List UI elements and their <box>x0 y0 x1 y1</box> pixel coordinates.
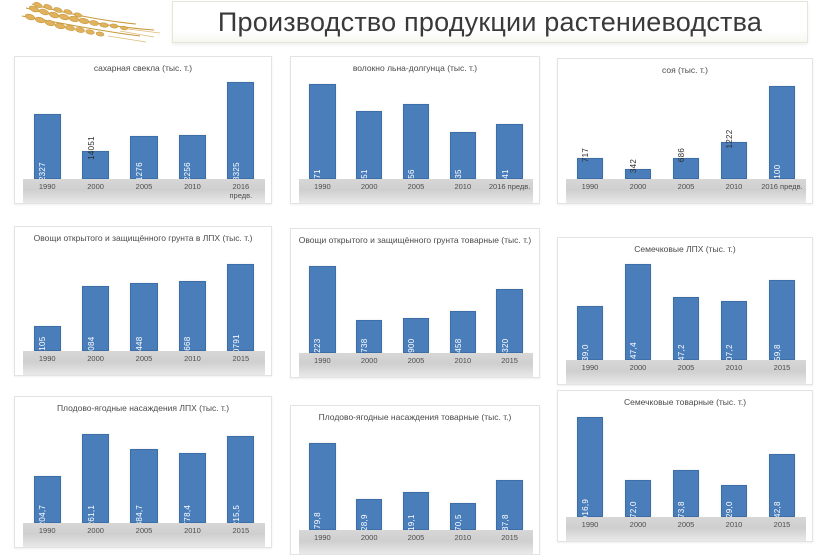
wheat-ears-icon <box>8 0 168 50</box>
bar-sugar-beet-2016 предв.[interactable]: 48325 <box>227 82 254 179</box>
x-axis-label: 2010 <box>439 182 486 191</box>
x-axis-label: 2000 <box>346 356 393 365</box>
bar-fruit-berry-lph-1990[interactable]: 1204,7 <box>34 476 61 523</box>
x-axis-label: 2015 <box>486 533 533 542</box>
bar-slot: 959,8 <box>758 256 806 360</box>
bar-slot: 48325 <box>217 75 265 179</box>
bar-fruit-berry-lph-2010[interactable]: 1778,4 <box>179 453 206 523</box>
bar-series-pome-commercial: 1016,9372,0473,8329,0642,8 <box>566 409 806 517</box>
x-axis-label: 1990 <box>299 533 346 542</box>
bar-slot: 747,2 <box>662 256 710 360</box>
x-axis-label: 2010 <box>710 363 758 372</box>
x-axis-flax-fiber: 19902000200520102016 предв. <box>299 179 533 203</box>
bar-slot: 2900 <box>393 259 440 353</box>
x-axis-label: 2015 <box>217 354 265 363</box>
bar-slot: 370,5 <box>439 436 486 530</box>
x-axis-label: 2015 <box>758 520 806 529</box>
bar-slot: 1204,7 <box>23 427 71 523</box>
bar-fruit-berry-lph-2005[interactable]: 1884,7 <box>130 449 157 523</box>
x-axis-soy: 19902000200520102016 предв. <box>566 179 806 203</box>
bar-slot: 41 <box>486 75 533 179</box>
bar-series-vegetables-lph: 310580848448866810791 <box>23 257 265 351</box>
bar-series-soy: 71734268612223100 <box>566 77 806 179</box>
bar-slot: 71 <box>299 75 346 179</box>
bar-slot: 2261,1 <box>71 427 119 523</box>
bar-slot: 2738 <box>346 259 393 353</box>
bar-slot: 10791 <box>217 257 265 351</box>
plot-area-soy: 7173426861222310019902000200520102016 пр… <box>566 77 806 203</box>
bar-vegetables-lph-2015[interactable]: 10791 <box>227 264 254 351</box>
x-axis-label: 1990 <box>23 182 71 191</box>
plot-area-sugar-beet: 3232714051212762225648325199020002005201… <box>23 75 265 203</box>
x-axis-label: 2000 <box>346 182 393 191</box>
bar-slot: 2215,5 <box>217 427 265 523</box>
chart-title-sugar-beet: сахарная свекла (тыс. т.) <box>15 63 271 74</box>
x-axis-label: 2005 <box>393 356 440 365</box>
x-axis-label: 2000 <box>614 182 662 191</box>
bar-pome-commercial-2000[interactable]: 372,0 <box>625 480 652 517</box>
x-axis-label: 2005 <box>393 182 440 191</box>
plot-area-pome-commercial: 1016,9372,0473,8329,0642,819902000200520… <box>566 409 806 541</box>
x-axis-fruit-berry-lph: 19902000200520102015 <box>23 523 265 547</box>
bar-fruit-berry-lph-2015[interactable]: 2215,5 <box>227 436 254 523</box>
bar-pome-lph-2005[interactable]: 747,2 <box>673 297 700 360</box>
x-axis-label: 2000 <box>346 533 393 542</box>
bar-sugar-beet-1990[interactable]: 32327 <box>34 114 61 179</box>
chart-title-fruit-berry-lph: Плодово-ягодные насаждения ЛПХ (тыс. т.) <box>15 403 271 414</box>
bar-pome-commercial-2010[interactable]: 329,0 <box>721 485 748 517</box>
bar-slot: 8668 <box>168 257 216 351</box>
bar-value-label: 71 <box>313 169 322 179</box>
chart-title-soy: соя (тыс. т.) <box>558 65 812 76</box>
plot-area-fruit-berry-commercial: 1179,8428,9519,1370,5687,819902000200520… <box>299 436 533 554</box>
bar-vegetables-commercial-2005[interactable]: 2900 <box>403 318 429 353</box>
bar-pome-commercial-2005[interactable]: 473,8 <box>673 470 700 517</box>
x-axis-label: 2010 <box>168 354 216 363</box>
x-axis-label: 2000 <box>614 363 662 372</box>
bar-fruit-berry-commercial-2000[interactable]: 428,9 <box>356 499 382 530</box>
x-axis-label: 1990 <box>23 354 71 363</box>
x-axis-label: 2010 <box>710 520 758 529</box>
x-axis-label: 2005 <box>662 182 710 191</box>
plot-area-vegetables-lph: 3105808484488668107911990200020052010201… <box>23 257 265 375</box>
bar-slot: 1222 <box>710 77 758 179</box>
x-axis-label: 2010 <box>168 182 216 191</box>
bar-slot: 717 <box>566 77 614 179</box>
bar-soy-2005[interactable]: 686 <box>673 158 700 179</box>
plot-area-flax-fiber: 715156354119902000200520102016 предв. <box>299 75 533 203</box>
bar-flax-fiber-2016 предв.[interactable]: 41 <box>496 124 522 179</box>
bar-slot: 642,8 <box>758 409 806 517</box>
plot-area-pome-lph: 639,01147,4747,2707,2959,819902000200520… <box>566 256 806 384</box>
x-axis-fruit-berry-commercial: 19902000200520102015 <box>299 530 533 554</box>
bar-value-label: 51 <box>360 169 369 179</box>
x-axis-label: 2010 <box>439 533 486 542</box>
bar-sugar-beet-2010[interactable]: 22256 <box>179 135 206 180</box>
chart-title-vegetables-lph: Овощи открытого и защищённого грунта в Л… <box>15 233 271 244</box>
bar-slot: 7223 <box>299 259 346 353</box>
x-axis-vegetables-lph: 19902000200520102015 <box>23 351 265 375</box>
bar-slot: 473,8 <box>662 409 710 517</box>
bar-sugar-beet-2000[interactable]: 14051 <box>82 151 109 179</box>
x-axis-label: 2005 <box>120 526 168 535</box>
bar-series-fruit-berry-lph: 1204,72261,11884,71778,42215,5 <box>23 427 265 523</box>
bar-soy-2016 предв.[interactable]: 3100 <box>769 86 796 179</box>
bar-slot: 686 <box>662 77 710 179</box>
chart-title-flax-fiber: волокно льна-долгунца (тыс. т.) <box>291 63 539 74</box>
x-axis-label: 1990 <box>566 363 614 372</box>
x-axis-label: 2015 <box>758 363 806 372</box>
chart-panel-pome-commercial[interactable]: Семечковые товарные (тыс. т.)1016,9372,0… <box>557 390 813 542</box>
bar-slot: 1179,8 <box>299 436 346 530</box>
x-axis-label: 2000 <box>614 520 662 529</box>
bar-soy-1990[interactable]: 717 <box>577 158 604 180</box>
bar-slot: 639,0 <box>566 256 614 360</box>
bar-slot: 3100 <box>758 77 806 179</box>
x-axis-label: 2000 <box>71 182 119 191</box>
bar-slot: 21276 <box>120 75 168 179</box>
chart-title-pome-lph: Семечковые ЛПХ (тыс. т.) <box>558 244 812 255</box>
bar-slot: 342 <box>614 77 662 179</box>
bar-flax-fiber-2005[interactable]: 56 <box>403 104 429 179</box>
page-header: Производство продукции растениеводства <box>0 0 819 50</box>
x-axis-label: 2015 <box>217 526 265 535</box>
x-axis-label: 2016 предв. <box>758 182 806 191</box>
chart-panel-fruit-berry-commercial[interactable]: Плодово-ягодные насаждения товарные (тыс… <box>290 405 540 555</box>
bar-fruit-berry-commercial-1990[interactable]: 1179,8 <box>309 443 335 530</box>
bar-flax-fiber-2000[interactable]: 51 <box>356 111 382 179</box>
bar-value-label: 686 <box>677 148 686 162</box>
x-axis-label: 2005 <box>120 354 168 363</box>
bar-pome-lph-2010[interactable]: 707,2 <box>721 301 748 360</box>
bar-fruit-berry-lph-2000[interactable]: 2261,1 <box>82 434 109 523</box>
x-axis-label: 2005 <box>393 533 440 542</box>
bar-vegetables-commercial-1990[interactable]: 7223 <box>309 266 335 353</box>
bar-pome-lph-1990[interactable]: 639,0 <box>577 306 604 360</box>
chart-panel-vegetables-lph[interactable]: Овощи открытого и защищённого грунта в Л… <box>14 226 272 376</box>
bar-slot: 3105 <box>23 257 71 351</box>
bar-slot: 1884,7 <box>120 427 168 523</box>
bar-value-label: 56 <box>407 169 416 179</box>
bar-series-fruit-berry-commercial: 1179,8428,9519,1370,5687,8 <box>299 436 533 530</box>
x-axis-label: 2010 <box>168 526 216 535</box>
chart-panel-sugar-beet[interactable]: сахарная свекла (тыс. т.)323271405121276… <box>14 56 272 204</box>
bar-slot: 14051 <box>71 75 119 179</box>
bar-slot: 32327 <box>23 75 71 179</box>
x-axis-pome-lph: 19902000200520102015 <box>566 360 806 384</box>
bar-slot: 22256 <box>168 75 216 179</box>
page-title-box: Производство продукции растениеводства <box>172 1 808 43</box>
bar-slot: 3458 <box>439 259 486 353</box>
x-axis-label: 2000 <box>71 354 119 363</box>
bar-value-label: 342 <box>629 159 638 173</box>
bar-slot: 329,0 <box>710 409 758 517</box>
bar-pome-commercial-2015[interactable]: 642,8 <box>769 454 796 517</box>
x-axis-label: 2010 <box>439 356 486 365</box>
bar-flax-fiber-1990[interactable]: 71 <box>309 84 335 179</box>
bar-vegetables-lph-2000[interactable]: 8084 <box>82 286 109 352</box>
bar-value-label: 41 <box>501 169 510 179</box>
bar-pome-commercial-1990[interactable]: 1016,9 <box>577 417 604 517</box>
plot-area-vegetables-commercial: 7223273829003458532019902000200520102015 <box>299 259 533 377</box>
x-axis-label: 1990 <box>566 182 614 191</box>
x-axis-pome-commercial: 19902000200520102015 <box>566 517 806 541</box>
x-axis-label: 1990 <box>566 520 614 529</box>
chart-panel-pome-lph[interactable]: Семечковые ЛПХ (тыс. т.)639,01147,4747,2… <box>557 237 813 385</box>
bar-slot: 1778,4 <box>168 427 216 523</box>
chart-panel-soy[interactable]: соя (тыс. т.)717342686122231001990200020… <box>557 58 813 204</box>
x-axis-label: 2015 <box>486 356 533 365</box>
bar-vegetables-commercial-2000[interactable]: 2738 <box>356 320 382 353</box>
bar-fruit-berry-commercial-2010[interactable]: 370,5 <box>450 503 476 530</box>
bar-series-sugar-beet: 3232714051212762225648325 <box>23 75 265 179</box>
bar-pome-lph-2015[interactable]: 959,8 <box>769 280 796 360</box>
bar-vegetables-lph-2010[interactable]: 8668 <box>179 281 206 351</box>
x-axis-label: 1990 <box>299 182 346 191</box>
bar-slot: 35 <box>439 75 486 179</box>
bar-series-flax-fiber: 7151563541 <box>299 75 533 179</box>
bar-soy-2010[interactable]: 1222 <box>721 142 748 179</box>
bar-slot: 519,1 <box>393 436 440 530</box>
bar-slot: 1147,4 <box>614 256 662 360</box>
chart-title-fruit-berry-commercial: Плодово-ягодные насаждения товарные (тыс… <box>291 412 539 423</box>
bar-slot: 1016,9 <box>566 409 614 517</box>
bar-slot: 372,0 <box>614 409 662 517</box>
x-axis-label: 2005 <box>662 363 710 372</box>
x-axis-label: 1990 <box>23 526 71 535</box>
bar-value-label: 717 <box>581 147 590 161</box>
x-axis-label: 2016 предв. <box>486 182 533 191</box>
bar-slot: 8448 <box>120 257 168 351</box>
page-title: Производство продукции растениеводства <box>218 7 762 38</box>
chart-title-pome-commercial: Семечковые товарные (тыс. т.) <box>558 397 812 408</box>
bar-vegetables-commercial-2010[interactable]: 3458 <box>450 311 476 353</box>
x-axis-label: 2005 <box>120 182 168 191</box>
bar-series-vegetables-commercial: 72232738290034585320 <box>299 259 533 353</box>
chart-panel-flax-fiber[interactable]: волокно льна-долгунца (тыс. т.)715156354… <box>290 56 540 204</box>
bar-vegetables-lph-1990[interactable]: 3105 <box>34 326 61 351</box>
bar-sugar-beet-2005[interactable]: 21276 <box>130 136 157 179</box>
bar-flax-fiber-2010[interactable]: 35 <box>450 132 476 179</box>
bar-pome-lph-2000[interactable]: 1147,4 <box>625 264 652 360</box>
bar-slot: 5320 <box>486 259 533 353</box>
bar-soy-2000[interactable]: 342 <box>625 169 652 179</box>
chart-panel-vegetables-commercial[interactable]: Овощи открытого и защищённого грунта тов… <box>290 228 540 378</box>
x-axis-label: 2016предв. <box>217 182 265 200</box>
x-axis-label: 1990 <box>299 356 346 365</box>
bar-slot: 8084 <box>71 257 119 351</box>
bar-fruit-berry-commercial-2005[interactable]: 519,1 <box>403 492 429 530</box>
bar-slot: 56 <box>393 75 440 179</box>
bar-series-pome-lph: 639,01147,4747,2707,2959,8 <box>566 256 806 360</box>
x-axis-label: 2005 <box>662 520 710 529</box>
bar-slot: 707,2 <box>710 256 758 360</box>
bar-slot: 687,8 <box>486 436 533 530</box>
bar-fruit-berry-commercial-2015[interactable]: 687,8 <box>496 480 522 531</box>
bar-value-label: 14051 <box>87 136 96 160</box>
x-axis-label: 2010 <box>710 182 758 191</box>
bar-slot: 51 <box>346 75 393 179</box>
x-axis-sugar-beet: 19902000200520102016предв. <box>23 179 265 203</box>
bar-slot: 428,9 <box>346 436 393 530</box>
chart-panel-fruit-berry-lph[interactable]: Плодово-ягодные насаждения ЛПХ (тыс. т.)… <box>14 396 272 548</box>
bar-value-label: 1222 <box>725 130 734 149</box>
x-axis-label: 2000 <box>71 526 119 535</box>
x-axis-vegetables-commercial: 19902000200520102015 <box>299 353 533 377</box>
bar-value-label: 35 <box>454 169 463 179</box>
chart-title-vegetables-commercial: Овощи открытого и защищённого грунта тов… <box>291 235 539 246</box>
bar-vegetables-commercial-2015[interactable]: 5320 <box>496 289 522 353</box>
bar-vegetables-lph-2005[interactable]: 8448 <box>130 283 157 351</box>
plot-area-fruit-berry-lph: 1204,72261,11884,71778,42215,51990200020… <box>23 427 265 547</box>
